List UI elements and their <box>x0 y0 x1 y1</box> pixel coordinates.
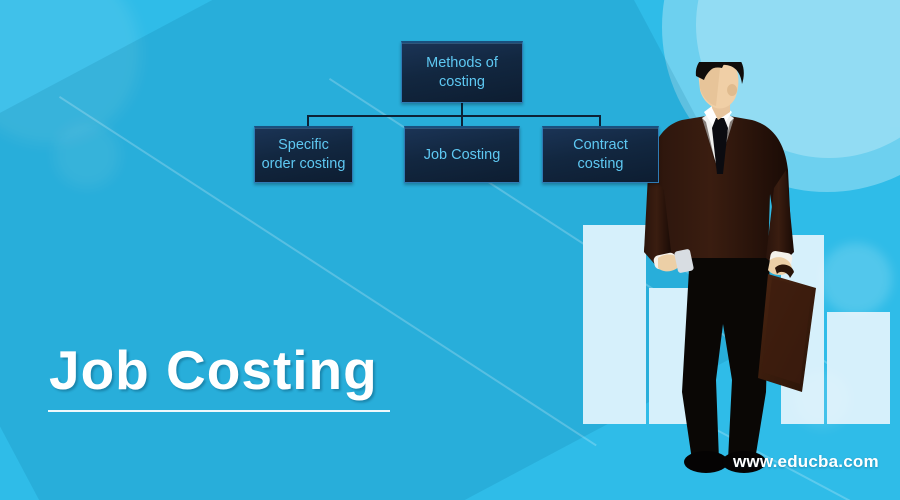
site-watermark: www.educba.com <box>733 452 879 472</box>
node-contract-costing-label: Contract costing <box>549 136 652 173</box>
node-specific-order-costing-label: Specific order costing <box>261 136 346 173</box>
banner-canvas: Methods of costing Specific order costin… <box>0 0 900 500</box>
node-job-costing[interactable]: Job Costing <box>404 126 520 183</box>
node-specific-order-costing[interactable]: Specific order costing <box>254 126 353 183</box>
title-underline <box>48 410 390 412</box>
node-methods-of-costing-label: Methods of costing <box>408 54 516 91</box>
page-title: Job Costing <box>49 338 378 402</box>
connector-horizontal-bus <box>307 115 601 117</box>
org-chart: Methods of costing Specific order costin… <box>0 0 900 200</box>
node-job-costing-label: Job Costing <box>424 146 501 165</box>
node-contract-costing[interactable]: Contract costing <box>542 126 659 183</box>
node-methods-of-costing[interactable]: Methods of costing <box>401 41 523 103</box>
